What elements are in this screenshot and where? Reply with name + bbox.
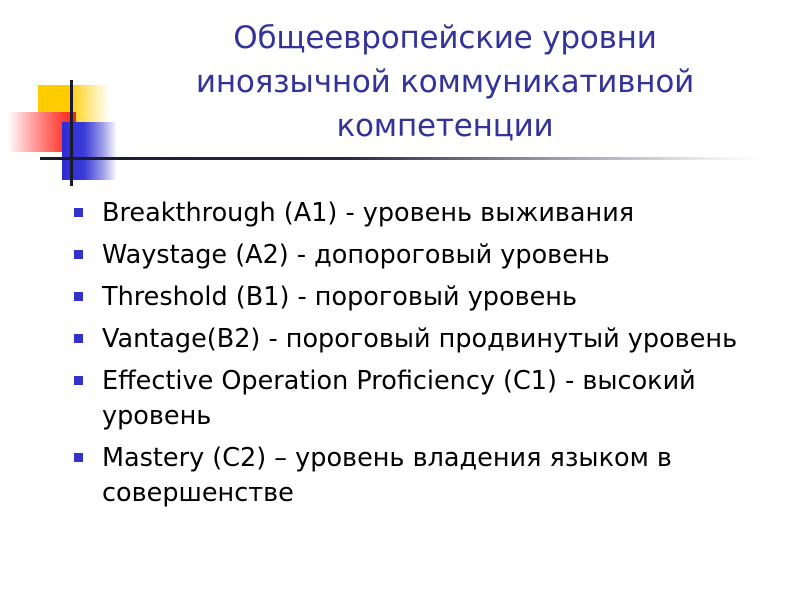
- list-item-label: Waystage (A2) - допороговый уровень: [102, 238, 788, 273]
- list-item-label: Effective Operation Proficiency (C1) - в…: [102, 364, 788, 434]
- list-item: Waystage (A2) - допороговый уровень: [70, 238, 788, 273]
- slide-title: Общеевропейские уровни иноязычной коммун…: [95, 16, 795, 148]
- vertical-rule: [70, 80, 73, 186]
- slide-title-line-3: компетенции: [95, 104, 795, 148]
- slide-title-line-2: иноязычной коммуникативной: [95, 60, 795, 104]
- bullet-square-icon: [74, 376, 83, 385]
- list-item-label: Breakthrough (A1) - уровень выживания: [102, 196, 788, 231]
- list-item: Threshold (B1) - пороговый уровень: [70, 280, 788, 315]
- list-item: Mastery (C2) – уровень владения языком в…: [70, 441, 788, 511]
- slide-bullet-list: Breakthrough (A1) - уровень выживания Wa…: [70, 196, 788, 518]
- presentation-slide: Общеевропейские уровни иноязычной коммун…: [0, 0, 800, 600]
- bullet-square-icon: [74, 208, 83, 217]
- bullet-square-icon: [74, 250, 83, 259]
- list-item: Effective Operation Proficiency (C1) - в…: [70, 364, 788, 434]
- horizontal-rule: [40, 157, 760, 160]
- bullet-square-icon: [74, 334, 83, 343]
- list-item-label: Mastery (C2) – уровень владения языком в…: [102, 441, 788, 511]
- slide-title-line-1: Общеевропейские уровни: [95, 16, 795, 60]
- list-item-label: Threshold (B1) - пороговый уровень: [102, 280, 788, 315]
- bullet-square-icon: [74, 453, 83, 462]
- list-item: Vantage(B2) - пороговый продвинутый уров…: [70, 322, 788, 357]
- list-item: Breakthrough (A1) - уровень выживания: [70, 196, 788, 231]
- list-item-label: Vantage(B2) - пороговый продвинутый уров…: [102, 322, 788, 357]
- bullet-square-icon: [74, 292, 83, 301]
